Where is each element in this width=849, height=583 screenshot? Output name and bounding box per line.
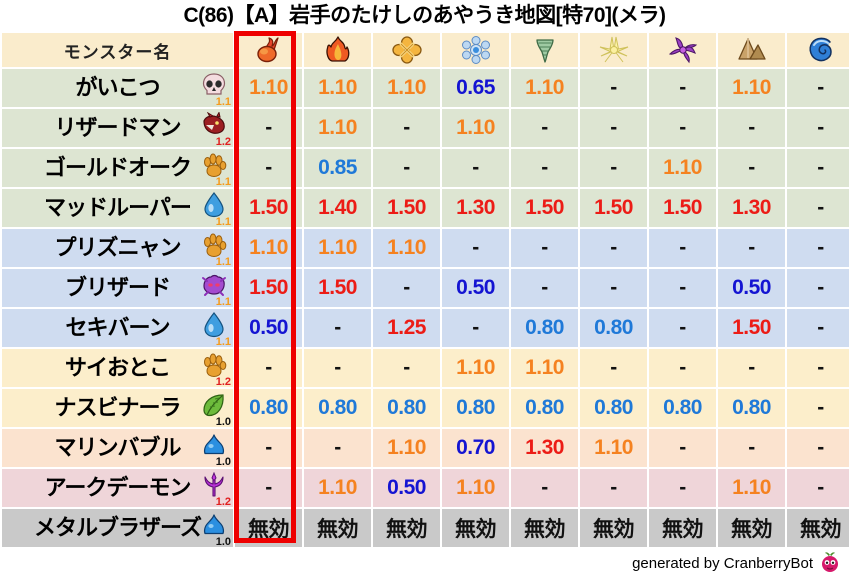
resistance-cell[interactable]: 0.50 bbox=[235, 309, 302, 347]
monster-name-label: マリンバブル bbox=[54, 429, 180, 467]
resistance-cell[interactable]: 1.40 bbox=[304, 189, 371, 227]
resistance-cell[interactable]: - bbox=[235, 469, 302, 507]
resistance-cell[interactable]: 1.10 bbox=[442, 349, 509, 387]
resistance-cell[interactable]: - bbox=[580, 229, 647, 267]
resistance-cell[interactable]: - bbox=[511, 269, 578, 307]
resistance-cell[interactable]: 0.80 bbox=[580, 309, 647, 347]
resistance-cell[interactable]: 無効 bbox=[442, 509, 509, 547]
monster-name-cell[interactable]: セキバーン1.1 bbox=[2, 309, 233, 347]
monster-name-cell[interactable]: ナスビナーラ1.0 bbox=[2, 389, 233, 427]
resistance-cell[interactable]: 1.30 bbox=[442, 189, 509, 227]
monster-name-cell[interactable]: がいこつ1.1 bbox=[2, 69, 233, 107]
resistance-cell[interactable]: - bbox=[304, 349, 371, 387]
resistance-cell[interactable]: 無効 bbox=[718, 509, 785, 547]
monster-multiplier: 1.1 bbox=[216, 257, 231, 267]
monster-name-cell[interactable]: メタルブラザーズ1.0 bbox=[2, 509, 233, 547]
resistance-cell[interactable]: - bbox=[718, 229, 785, 267]
flame-icon bbox=[323, 36, 353, 64]
resistance-cell[interactable]: 0.80 bbox=[649, 389, 716, 427]
resistance-cell[interactable]: - bbox=[373, 109, 440, 147]
resistance-cell[interactable]: - bbox=[787, 109, 849, 147]
resistance-cell[interactable]: - bbox=[442, 309, 509, 347]
table-row: マッドルーパー1.11.501.401.501.301.501.501.501.… bbox=[2, 189, 849, 227]
resistance-cell[interactable]: 1.50 bbox=[718, 309, 785, 347]
resistance-cell[interactable]: 1.50 bbox=[649, 189, 716, 227]
resistance-cell[interactable]: - bbox=[718, 149, 785, 187]
monster-name-label: マッドルーパー bbox=[44, 189, 191, 227]
resistance-cell[interactable]: 0.50 bbox=[373, 469, 440, 507]
resistance-cell[interactable]: 1.10 bbox=[511, 349, 578, 387]
resistance-cell[interactable]: - bbox=[580, 269, 647, 307]
table-row: プリズニャン1.11.101.101.10------ bbox=[2, 229, 849, 267]
table-row: ナスビナーラ1.00.800.800.800.800.800.800.800.8… bbox=[2, 389, 849, 427]
resistance-cell[interactable]: 0.80 bbox=[718, 389, 785, 427]
resistance-cell[interactable]: 1.10 bbox=[511, 69, 578, 107]
skull-icon bbox=[201, 72, 227, 98]
resistance-cell[interactable]: - bbox=[580, 149, 647, 187]
resistance-cell[interactable]: - bbox=[580, 69, 647, 107]
resistance-cell[interactable]: - bbox=[787, 469, 849, 507]
resistance-cell[interactable]: 0.70 bbox=[442, 429, 509, 467]
monster-name-label: プリズニャン bbox=[54, 229, 180, 267]
column-header-mera[interactable] bbox=[235, 33, 302, 67]
monster-name-cell[interactable]: マッドルーパー1.1 bbox=[2, 189, 233, 227]
resistance-cell[interactable]: - bbox=[718, 429, 785, 467]
monster-name-cell[interactable]: リザードマン1.2 bbox=[2, 109, 233, 147]
monster-multiplier: 1.0 bbox=[216, 457, 231, 467]
resistance-cell[interactable]: 無効 bbox=[649, 509, 716, 547]
resistance-cell[interactable]: 1.10 bbox=[718, 69, 785, 107]
resistance-cell[interactable]: 1.10 bbox=[718, 469, 785, 507]
resistance-cell[interactable]: - bbox=[235, 109, 302, 147]
resistance-cell[interactable]: - bbox=[649, 109, 716, 147]
column-header-bagi[interactable] bbox=[511, 33, 578, 67]
monster-name-cell[interactable]: サイおとこ1.2 bbox=[2, 349, 233, 387]
resistance-cell[interactable]: 1.10 bbox=[649, 149, 716, 187]
table-row: サイおとこ1.2---1.101.10---- bbox=[2, 349, 849, 387]
resistance-cell[interactable]: 0.80 bbox=[511, 309, 578, 347]
mountain-earth-icon bbox=[737, 36, 767, 64]
resistance-cell[interactable]: 無効 bbox=[373, 509, 440, 547]
footer-label: generated by CranberryBot bbox=[632, 553, 813, 575]
resistance-cell[interactable]: 0.80 bbox=[235, 389, 302, 427]
resistance-cell[interactable]: - bbox=[787, 149, 849, 187]
resistance-cell[interactable]: - bbox=[787, 349, 849, 387]
cranberry-bot-logo-icon bbox=[819, 551, 841, 577]
resistance-cell[interactable]: - bbox=[373, 349, 440, 387]
resistance-cell[interactable]: - bbox=[511, 149, 578, 187]
resistance-table: モンスター名 bbox=[0, 31, 849, 549]
resistance-cell[interactable]: - bbox=[235, 429, 302, 467]
resistance-cell[interactable]: - bbox=[580, 349, 647, 387]
resistance-cell[interactable]: - bbox=[649, 349, 716, 387]
monster-multiplier: 1.1 bbox=[216, 337, 231, 347]
column-header-mahotoon[interactable] bbox=[787, 33, 849, 67]
water-drop-icon bbox=[201, 192, 227, 218]
table-row: アークデーモン1.2-1.100.501.10---1.10- bbox=[2, 469, 849, 507]
resistance-cell[interactable]: 1.10 bbox=[442, 109, 509, 147]
resistance-cell[interactable]: - bbox=[649, 429, 716, 467]
monster-name-label: ブリザード bbox=[65, 269, 170, 307]
monster-multiplier: 1.1 bbox=[216, 97, 231, 107]
resistance-cell[interactable]: 1.50 bbox=[235, 189, 302, 227]
table-row: がいこつ1.11.101.101.100.651.10--1.10- bbox=[2, 69, 849, 107]
resistance-cell[interactable]: 1.10 bbox=[373, 429, 440, 467]
resistance-cell[interactable]: - bbox=[580, 469, 647, 507]
resistance-cell[interactable]: - bbox=[649, 469, 716, 507]
monster-name-cell[interactable]: ゴールドオーク1.1 bbox=[2, 149, 233, 187]
column-header-gira[interactable] bbox=[304, 33, 371, 67]
resistance-cell[interactable]: 無効 bbox=[235, 509, 302, 547]
column-header-dorama[interactable] bbox=[649, 33, 716, 67]
resistance-cell[interactable]: 1.50 bbox=[373, 189, 440, 227]
resistance-cell[interactable]: 1.50 bbox=[511, 189, 578, 227]
table-row: マリンバブル1.0--1.100.701.301.10--- bbox=[2, 429, 849, 467]
monster-name-header: モンスター名 bbox=[2, 33, 233, 67]
resistance-cell[interactable]: 0.50 bbox=[442, 269, 509, 307]
explosion-icon bbox=[392, 36, 422, 64]
resistance-cell[interactable]: 1.10 bbox=[235, 69, 302, 107]
resistance-cell[interactable]: - bbox=[235, 349, 302, 387]
table-row: メタルブラザーズ1.0無効無効無効無効無効無効無効無効無効 bbox=[2, 509, 849, 547]
table-header-row: モンスター名 bbox=[2, 33, 849, 67]
monster-multiplier: 1.0 bbox=[216, 537, 231, 547]
resistance-cell[interactable]: - bbox=[580, 109, 647, 147]
resistance-cell[interactable]: 1.30 bbox=[511, 429, 578, 467]
monster-name-cell[interactable]: アークデーモン1.2 bbox=[2, 469, 233, 507]
resistance-cell[interactable]: 1.10 bbox=[304, 469, 371, 507]
resistance-cell[interactable]: - bbox=[787, 429, 849, 467]
monster-name-label: セキバーン bbox=[66, 309, 170, 347]
purple-blob-icon bbox=[201, 272, 227, 298]
tornado-icon bbox=[530, 36, 560, 64]
monster-name-label: メタルブラザーズ bbox=[34, 509, 201, 547]
resistance-cell[interactable]: 0.50 bbox=[718, 269, 785, 307]
resistance-cell[interactable]: - bbox=[511, 109, 578, 147]
table-row: セキバーン1.10.50-1.25-0.800.80-1.50- bbox=[2, 309, 849, 347]
column-header-dein[interactable] bbox=[580, 33, 647, 67]
resistance-cell[interactable]: 0.65 bbox=[442, 69, 509, 107]
resistance-cell[interactable]: 1.50 bbox=[304, 269, 371, 307]
dark-swirl-icon bbox=[668, 36, 698, 64]
resistance-cell[interactable]: - bbox=[511, 229, 578, 267]
resistance-cell[interactable]: 無効 bbox=[787, 509, 849, 547]
resistance-cell[interactable]: 0.80 bbox=[511, 389, 578, 427]
resistance-cell[interactable]: - bbox=[787, 69, 849, 107]
monster-name-cell[interactable]: マリンバブル1.0 bbox=[2, 429, 233, 467]
resistance-cell[interactable]: 無効 bbox=[304, 509, 371, 547]
resistance-cell[interactable]: - bbox=[304, 309, 371, 347]
resistance-cell[interactable]: 0.80 bbox=[580, 389, 647, 427]
monster-name-cell[interactable]: プリズニャン1.1 bbox=[2, 229, 233, 267]
leaf-icon bbox=[201, 392, 227, 418]
resistance-cell[interactable]: - bbox=[718, 109, 785, 147]
monster-multiplier: 1.2 bbox=[216, 377, 231, 387]
monster-name-cell[interactable]: ブリザード1.1 bbox=[2, 269, 233, 307]
resistance-cell[interactable]: 1.10 bbox=[373, 69, 440, 107]
resistance-cell[interactable]: - bbox=[718, 349, 785, 387]
resistance-cell[interactable]: 1.10 bbox=[304, 109, 371, 147]
resistance-cell[interactable]: - bbox=[787, 389, 849, 427]
fire-meteor-icon bbox=[254, 36, 284, 64]
paw-icon bbox=[201, 232, 227, 258]
blue-slime-icon bbox=[201, 512, 227, 538]
resistance-cell[interactable]: 0.80 bbox=[373, 389, 440, 427]
monster-multiplier: 1.2 bbox=[216, 497, 231, 507]
water-drop-icon bbox=[201, 312, 227, 338]
monster-multiplier: 1.1 bbox=[216, 217, 231, 227]
dragon-head-icon bbox=[201, 112, 227, 138]
monster-multiplier: 1.1 bbox=[216, 297, 231, 307]
resistance-cell[interactable]: 0.80 bbox=[304, 389, 371, 427]
resistance-cell[interactable]: - bbox=[649, 269, 716, 307]
resistance-cell[interactable]: - bbox=[787, 229, 849, 267]
page-title: C(86)【A】岩手のたけしのあやうき地図[特70](メラ) bbox=[0, 0, 849, 31]
table-body: がいこつ1.11.101.101.100.651.10--1.10-リザードマン… bbox=[2, 69, 849, 547]
resistance-cell[interactable]: 1.30 bbox=[718, 189, 785, 227]
monster-multiplier: 1.0 bbox=[216, 417, 231, 427]
resistance-cell[interactable]: - bbox=[649, 229, 716, 267]
paw-icon bbox=[201, 152, 227, 178]
blue-slime-icon bbox=[201, 432, 227, 458]
monster-name-label: サイおとこ bbox=[65, 349, 170, 387]
resistance-cell[interactable]: - bbox=[235, 149, 302, 187]
light-star-icon bbox=[599, 36, 629, 64]
monster-name-label: がいこつ bbox=[75, 69, 159, 107]
resistance-cell[interactable]: 1.50 bbox=[580, 189, 647, 227]
monster-name-label: ナスビナーラ bbox=[54, 389, 180, 427]
resistance-cell[interactable]: 1.25 bbox=[373, 309, 440, 347]
resistance-cell[interactable]: 1.50 bbox=[235, 269, 302, 307]
table-row: ゴールドオーク1.1-0.85----1.10-- bbox=[2, 149, 849, 187]
resistance-cell[interactable]: - bbox=[373, 269, 440, 307]
monster-multiplier: 1.1 bbox=[216, 177, 231, 187]
resistance-cell[interactable]: - bbox=[442, 229, 509, 267]
resistance-cell[interactable]: 1.10 bbox=[580, 429, 647, 467]
monster-name-label: アークデーモン bbox=[45, 469, 191, 507]
resistance-cell[interactable]: - bbox=[787, 309, 849, 347]
resistance-cell[interactable]: 1.10 bbox=[304, 69, 371, 107]
footer: generated by CranberryBot bbox=[632, 551, 841, 577]
column-header-ionazun[interactable] bbox=[373, 33, 440, 67]
resistance-cell[interactable]: 1.10 bbox=[373, 229, 440, 267]
resistance-cell[interactable]: 0.85 bbox=[304, 149, 371, 187]
resistance-cell[interactable]: - bbox=[373, 149, 440, 187]
resistance-cell[interactable]: - bbox=[511, 469, 578, 507]
column-header-hyado[interactable] bbox=[442, 33, 509, 67]
resistance-cell[interactable]: - bbox=[649, 309, 716, 347]
resistance-cell[interactable]: - bbox=[649, 69, 716, 107]
snowflake-icon bbox=[461, 36, 491, 64]
resistance-cell[interactable]: 1.10 bbox=[304, 229, 371, 267]
resistance-cell[interactable]: 無効 bbox=[580, 509, 647, 547]
table-row: リザードマン1.2-1.10-1.10----- bbox=[2, 109, 849, 147]
water-wave-icon bbox=[806, 36, 836, 64]
resistance-cell[interactable]: - bbox=[304, 429, 371, 467]
column-header-jiba[interactable] bbox=[718, 33, 785, 67]
resistance-cell[interactable]: 1.10 bbox=[235, 229, 302, 267]
paw-icon bbox=[201, 352, 227, 378]
resistance-cell[interactable]: 0.80 bbox=[442, 389, 509, 427]
monster-multiplier: 1.2 bbox=[216, 137, 231, 147]
table-row: ブリザード1.11.501.50-0.50---0.50- bbox=[2, 269, 849, 307]
monster-name-label: ゴールドオーク bbox=[44, 149, 191, 187]
resistance-cell[interactable]: - bbox=[787, 269, 849, 307]
resistance-cell[interactable]: - bbox=[787, 189, 849, 227]
monster-name-label: リザードマン bbox=[54, 109, 180, 147]
resistance-cell[interactable]: 無効 bbox=[511, 509, 578, 547]
purple-trident-icon bbox=[201, 472, 227, 498]
resistance-cell[interactable]: 1.10 bbox=[442, 469, 509, 507]
resistance-cell[interactable]: - bbox=[442, 149, 509, 187]
